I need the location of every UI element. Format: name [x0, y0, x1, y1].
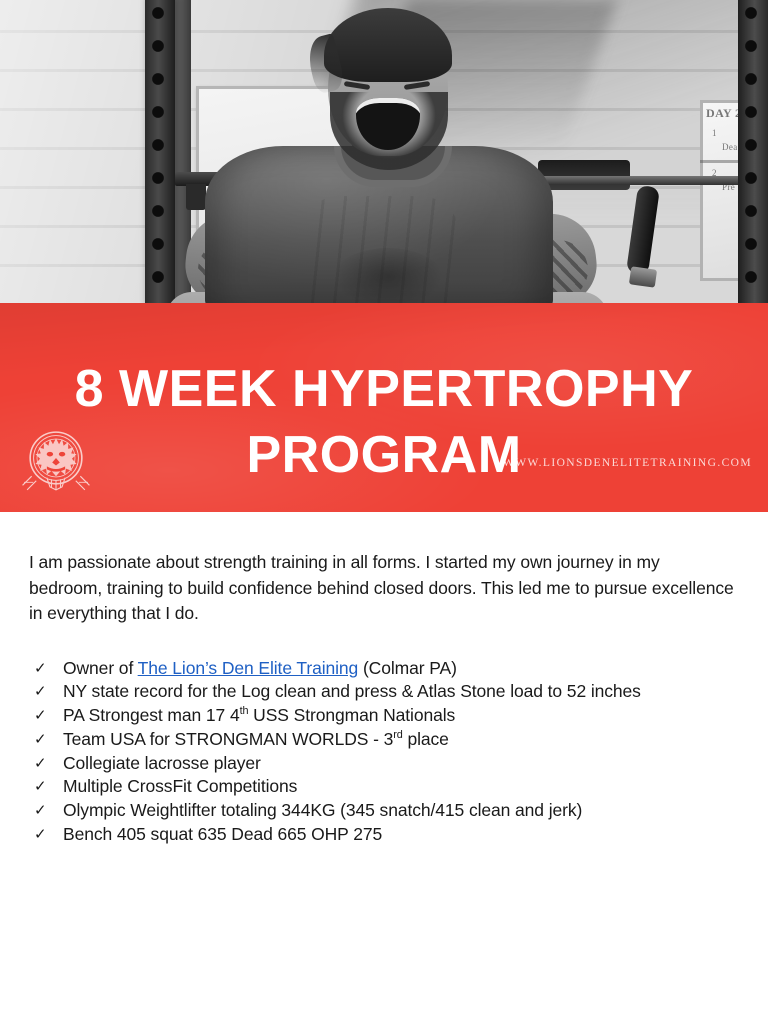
- shirt-graphic-print: [332, 248, 444, 303]
- bullet-text: Collegiate lacrosse player: [63, 753, 261, 773]
- checkmark-icon: ✓: [34, 799, 46, 823]
- website-url: WWW.LIONSDENELITETRAINING.COM: [503, 457, 752, 469]
- document-page: DAY 2 1 Dead 2 Pre: [0, 0, 768, 1024]
- checkmark-icon: ✓: [34, 704, 46, 728]
- intro-paragraph: I am passionate about strength training …: [0, 512, 768, 627]
- bullet-text: Multiple CrossFit Competitions: [63, 776, 297, 796]
- list-item: ✓ Olympic Weightlifter totaling 344KG (3…: [0, 799, 742, 823]
- checkmark-icon: ✓: [34, 775, 46, 799]
- list-item: ✓ Owner of The Lion’s Den Elite Training…: [0, 657, 742, 681]
- list-item: ✓ Collegiate lacrosse player: [0, 752, 742, 776]
- bullet-text: NY state record for the Log clean and pr…: [63, 681, 641, 701]
- list-item: ✓ Team USA for STRONGMAN WORLDS - 3rd pl…: [0, 728, 742, 752]
- list-item: ✓ NY state record for the Log clean and …: [0, 680, 742, 704]
- athlete-figure: [0, 0, 768, 303]
- bullet-text-after: USS Strongman Nationals: [248, 705, 455, 725]
- body-content: I am passionate about strength training …: [0, 512, 768, 847]
- checkmark-icon: ✓: [34, 752, 46, 776]
- list-item: ✓ Multiple CrossFit Competitions: [0, 775, 742, 799]
- checkmark-icon: ✓: [34, 680, 46, 704]
- checkmark-icon: ✓: [34, 657, 46, 681]
- title-banner: 8 WEEK HYPERTROPHY PROGRAM: [0, 303, 768, 512]
- lions-den-link[interactable]: The Lion’s Den Elite Training: [138, 658, 359, 678]
- bullet-text-after: (Colmar PA): [358, 658, 457, 678]
- bullet-text-before: Team USA for STRONGMAN WORLDS - 3: [63, 729, 393, 749]
- credentials-list: ✓ Owner of The Lion’s Den Elite Training…: [0, 627, 768, 847]
- checkmark-icon: ✓: [34, 823, 46, 847]
- bullet-text: Bench 405 squat 635 Dead 665 OHP 275: [63, 824, 382, 844]
- lion-crest-logo: [18, 421, 94, 501]
- bullet-text-before: PA Strongest man 17 4: [63, 705, 240, 725]
- checkmark-icon: ✓: [34, 728, 46, 752]
- athlete-hair: [324, 8, 452, 82]
- list-item: ✓ PA Strongest man 17 4th USS Strongman …: [0, 704, 742, 728]
- bullet-text-after: place: [403, 729, 449, 749]
- bullet-text-before: Owner of: [63, 658, 138, 678]
- bullet-text: Olympic Weightlifter totaling 344KG (345…: [63, 800, 582, 820]
- list-item: ✓ Bench 405 squat 635 Dead 665 OHP 275: [0, 823, 742, 847]
- hero-photo: DAY 2 1 Dead 2 Pre: [0, 0, 768, 303]
- ordinal-suffix: rd: [393, 729, 402, 741]
